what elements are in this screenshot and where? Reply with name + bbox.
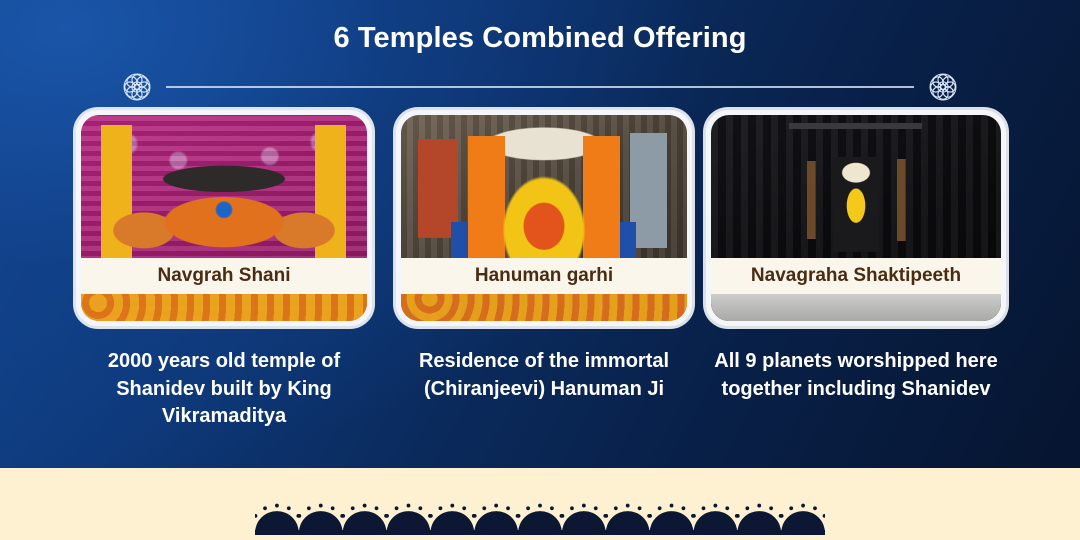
- card-label: Navagraha Shaktipeeth: [711, 258, 1001, 294]
- caption-row: 2000 years old temple of Shanidev built …: [0, 348, 1080, 448]
- temple-card[interactable]: Navagraha Shaktipeeth: [706, 110, 1006, 326]
- temple-caption: All 9 planets worshipped here together i…: [700, 348, 1012, 403]
- temple-card[interactable]: Navgrah Shani: [76, 110, 372, 326]
- page-title: 6 Temples Combined Offering: [0, 22, 1080, 55]
- mandala-rosette-left-icon: [118, 68, 156, 106]
- scalloped-arch-border-icon: [255, 489, 825, 537]
- mandala-rosette-right-icon: [924, 68, 962, 106]
- temple-caption: Residence of the immortal (Chiranjeevi) …: [396, 348, 692, 403]
- ornamental-divider: [118, 68, 962, 106]
- poster-canvas: 6 Temples Combined Offering: [0, 0, 1080, 540]
- card-label: Navgrah Shani: [81, 258, 367, 294]
- divider-line: [166, 86, 914, 88]
- card-label: Hanuman garhi: [401, 258, 687, 294]
- temple-card-row: Navgrah Shani Hanuman garhi Navagraha Sh…: [0, 110, 1080, 330]
- temple-caption: 2000 years old temple of Shanidev built …: [64, 348, 384, 431]
- temple-card[interactable]: Hanuman garhi: [396, 110, 692, 326]
